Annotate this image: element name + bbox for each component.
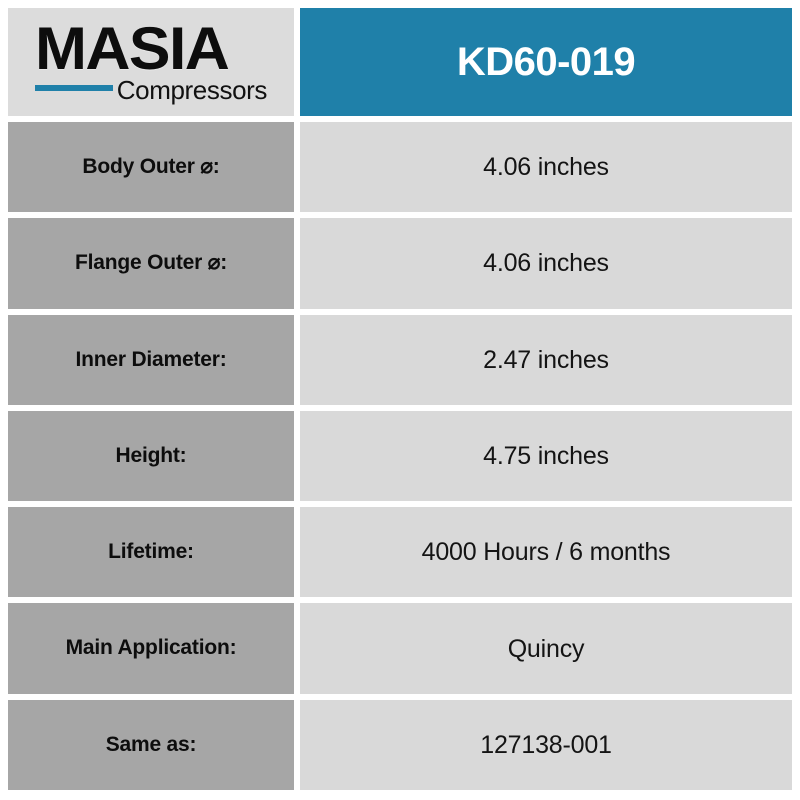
brand-name-masia: MASIA bbox=[35, 21, 228, 76]
table-row: Body Outer ⌀:4.06 inches bbox=[8, 122, 792, 212]
spec-value: 4.06 inches bbox=[483, 152, 609, 182]
spec-value-cell: 4000 Hours / 6 months bbox=[300, 507, 792, 597]
page-title: KD60-019 bbox=[457, 40, 635, 85]
spec-value: 2.47 inches bbox=[483, 345, 609, 375]
table-row: Height:4.75 inches bbox=[8, 411, 792, 501]
spec-label: Same as: bbox=[106, 733, 197, 757]
spec-value: 127138-001 bbox=[480, 730, 611, 760]
brand-logo: MASIA Compressors bbox=[35, 21, 267, 103]
spec-value: 4.75 inches bbox=[483, 441, 609, 471]
table-row: Flange Outer ⌀:4.06 inches bbox=[8, 218, 792, 308]
spec-label-cell: Inner Diameter: bbox=[8, 315, 294, 405]
product-spec-sheet: MASIA Compressors KD60-019 Body Outer ⌀:… bbox=[0, 0, 800, 800]
spec-label-cell: Body Outer ⌀: bbox=[8, 122, 294, 212]
brand-accent-bar-icon bbox=[35, 85, 113, 91]
spec-value-cell: Quincy bbox=[300, 603, 792, 693]
spec-value: 4000 Hours / 6 months bbox=[422, 537, 671, 567]
spec-label: Body Outer ⌀: bbox=[82, 155, 219, 179]
table-row: Lifetime:4000 Hours / 6 months bbox=[8, 507, 792, 597]
spec-value-cell: 4.75 inches bbox=[300, 411, 792, 501]
spec-value-cell: 4.06 inches bbox=[300, 218, 792, 308]
spec-label: Inner Diameter: bbox=[75, 348, 226, 372]
spec-value: Quincy bbox=[508, 634, 585, 664]
spec-label-cell: Lifetime: bbox=[8, 507, 294, 597]
spec-table: Body Outer ⌀:4.06 inchesFlange Outer ⌀:4… bbox=[8, 122, 792, 790]
table-row: Inner Diameter:2.47 inches bbox=[8, 315, 792, 405]
spec-label-cell: Height: bbox=[8, 411, 294, 501]
spec-label-cell: Same as: bbox=[8, 700, 294, 790]
product-title-cell: KD60-019 bbox=[300, 8, 792, 116]
brand-logo-cell: MASIA Compressors bbox=[8, 8, 294, 116]
spec-label: Main Application: bbox=[66, 636, 237, 660]
spec-value-cell: 127138-001 bbox=[300, 700, 792, 790]
spec-label: Lifetime: bbox=[108, 540, 194, 564]
spec-value-cell: 2.47 inches bbox=[300, 315, 792, 405]
spec-label: Flange Outer ⌀: bbox=[75, 251, 227, 275]
spec-value-cell: 4.06 inches bbox=[300, 122, 792, 212]
spec-value: 4.06 inches bbox=[483, 248, 609, 278]
spec-label-cell: Flange Outer ⌀: bbox=[8, 218, 294, 308]
spec-sheet-header: MASIA Compressors KD60-019 bbox=[8, 8, 792, 116]
spec-label-cell: Main Application: bbox=[8, 603, 294, 693]
table-row: Main Application:Quincy bbox=[8, 603, 792, 693]
spec-label: Height: bbox=[116, 444, 187, 468]
table-row: Same as:127138-001 bbox=[8, 700, 792, 790]
